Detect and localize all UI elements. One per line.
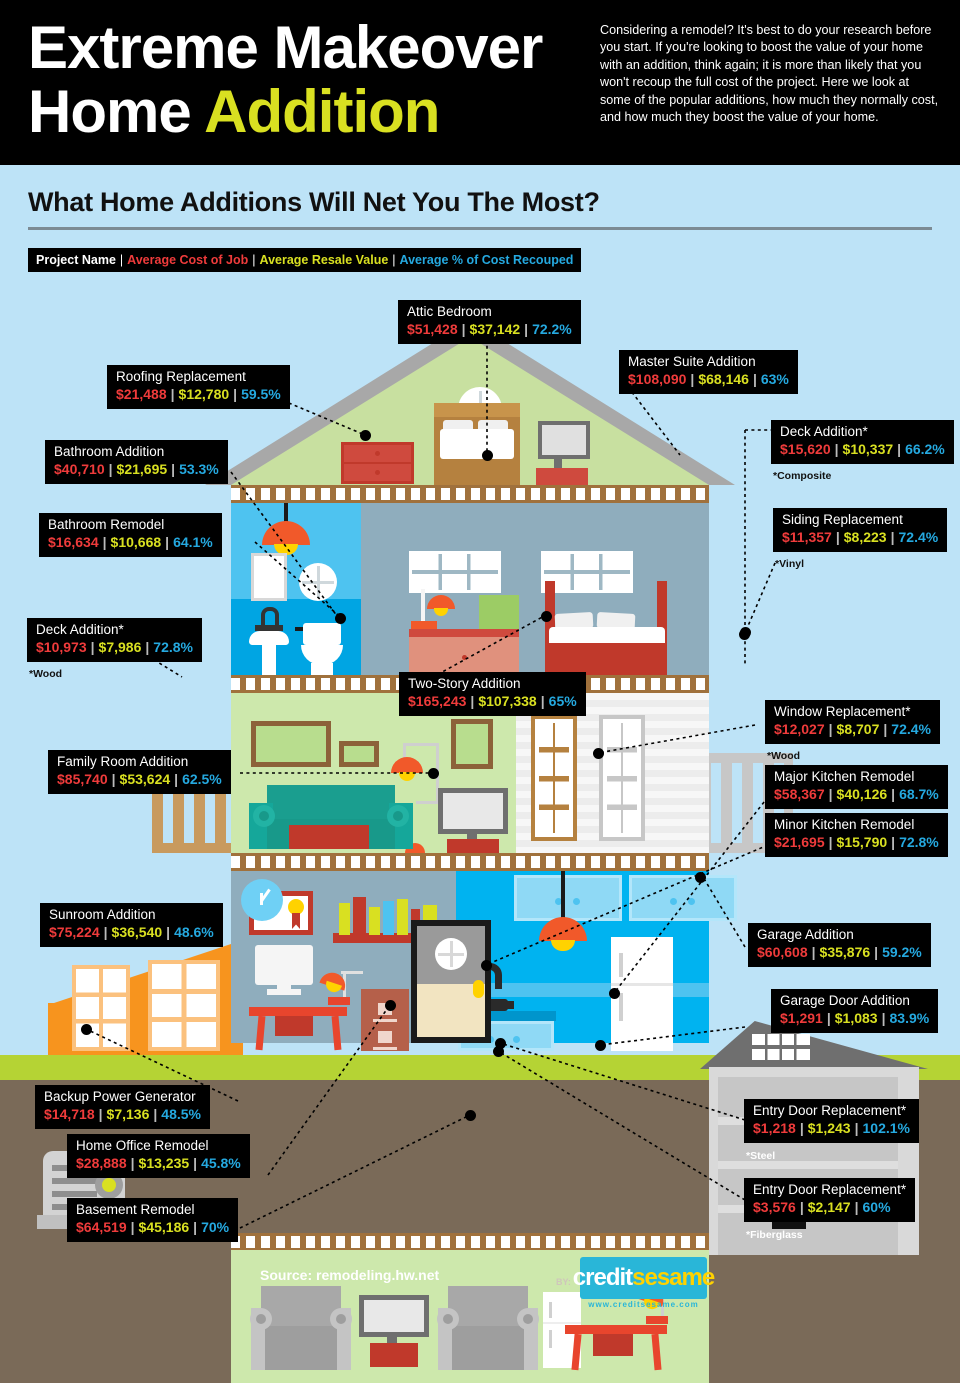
callout-values: $108,090|$68,146|63% xyxy=(628,371,789,388)
callout-bathroom-addition[interactable]: Bathroom Addition $40,710|$21,695|53.3% xyxy=(45,440,228,484)
callout-name: Major Kitchen Remodel xyxy=(774,769,939,785)
callout-values: $28,888|$13,235|45.8% xyxy=(76,1155,241,1172)
family-room-art-large xyxy=(251,721,331,767)
callout-pct: 64.1% xyxy=(173,534,213,550)
basement-armchair-left-back xyxy=(261,1286,341,1326)
callout-home-office[interactable]: Home Office Remodel $28,888|$13,235|45.8… xyxy=(67,1134,250,1178)
basement-armchair-right-back xyxy=(448,1286,528,1326)
callout-pct: 45.8% xyxy=(201,1155,241,1171)
callout-pct: 48.5% xyxy=(161,1106,201,1122)
garage-vent-window xyxy=(752,1034,810,1060)
footnote-siding: *Vinyl xyxy=(775,558,804,570)
title-line-2: Home Addition xyxy=(28,80,588,144)
attic-side-table xyxy=(536,468,588,485)
callout-resale: $53,624 xyxy=(120,771,171,787)
callout-cost: $12,027 xyxy=(774,721,825,737)
callout-values: $60,608|$35,876|59.2% xyxy=(757,944,922,961)
callout-name: Window Replacement* xyxy=(774,704,931,720)
sunroom-window-left xyxy=(72,965,130,1051)
book-4 xyxy=(383,901,394,935)
footnote-deck-composite: *Composite xyxy=(773,470,831,482)
callout-name: Home Office Remodel xyxy=(76,1138,241,1154)
callout-resale: $21,695 xyxy=(117,461,168,477)
toilet-tank xyxy=(303,623,341,645)
callout-values: $14,718|$7,136|48.5% xyxy=(44,1106,201,1123)
callout-resale: $45,186 xyxy=(139,1219,190,1235)
callout-major-kitchen[interactable]: Major Kitchen Remodel $58,367|$40,126|68… xyxy=(765,765,948,809)
anchor-dot-bathroom xyxy=(335,613,346,624)
callout-resale: $1,083 xyxy=(835,1010,878,1026)
callout-entry-door-steel[interactable]: Entry Door Replacement* $1,218|$1,243|10… xyxy=(744,1099,919,1143)
callout-pct: 72.4% xyxy=(891,721,931,737)
callout-cost: $16,634 xyxy=(48,534,99,550)
callout-window-replacement[interactable]: Window Replacement* $12,027|$8,707|72.4% xyxy=(765,700,940,744)
legend-bar: Project Name | Average Cost of Job | Ave… xyxy=(28,248,581,272)
attic-dresser xyxy=(341,442,414,484)
callout-entry-door-fiberglass[interactable]: Entry Door Replacement* $3,576|$2,147|60… xyxy=(744,1178,915,1222)
callout-cost: $85,740 xyxy=(57,771,108,787)
certificate-seal-icon xyxy=(288,899,304,915)
callout-cost: $64,519 xyxy=(76,1219,127,1235)
callout-cost: $108,090 xyxy=(628,371,686,387)
floor-upper xyxy=(231,503,709,675)
callout-name: Garage Addition xyxy=(757,927,922,943)
callout-resale: $40,126 xyxy=(837,786,888,802)
callout-values: $165,243|$107,338|65% xyxy=(408,693,577,710)
intro-paragraph: Considering a remodel? It's best to do y… xyxy=(600,22,940,126)
attic-tv xyxy=(538,421,590,459)
callout-name: Entry Door Replacement* xyxy=(753,1103,910,1119)
kitchen-refrigerator xyxy=(611,937,673,1051)
office-chair-bar xyxy=(275,1029,313,1036)
callout-garage-door[interactable]: Garage Door Addition $1,291|$1,083|83.9% xyxy=(771,989,938,1033)
callout-resale: $8,707 xyxy=(837,721,880,737)
floor-joist-middle xyxy=(231,853,709,871)
anchor-dot-attic-bedroom xyxy=(482,450,493,461)
title-plain: Home xyxy=(28,78,204,145)
legend-sep-3: | xyxy=(388,253,399,267)
callout-name: Entry Door Replacement* xyxy=(753,1182,906,1198)
callout-values: $12,027|$8,707|72.4% xyxy=(774,721,931,738)
anchor-dot-sunroom xyxy=(81,1024,92,1035)
coffee-table xyxy=(289,825,369,849)
attic-bed xyxy=(434,403,520,485)
callout-values: $75,224|$36,540|48.6% xyxy=(49,924,214,941)
callout-cost: $51,428 xyxy=(407,321,458,337)
callout-values: $3,576|$2,147|60% xyxy=(753,1199,906,1216)
callout-resale: $12,780 xyxy=(179,386,230,402)
callout-resale: $2,147 xyxy=(808,1199,851,1215)
callout-resale: $7,136 xyxy=(107,1106,150,1122)
french-door-wood xyxy=(531,715,577,841)
callout-cost: $3,576 xyxy=(753,1199,796,1215)
callout-pct: 72.2% xyxy=(532,321,572,337)
callout-values: $64,519|$45,186|70% xyxy=(76,1219,229,1236)
callout-resale: $35,876 xyxy=(820,944,871,960)
anchor-dot-entry-fiberglass xyxy=(493,1046,504,1057)
bathroom-round-window xyxy=(299,563,337,601)
callout-pct: 102.1% xyxy=(863,1120,910,1136)
header-banner: Extreme Makeover Home Addition Consideri… xyxy=(0,0,960,165)
door-knob-icon xyxy=(473,980,484,998)
callout-cost: $60,608 xyxy=(757,944,808,960)
callout-bathroom-remodel[interactable]: Bathroom Remodel $16,634|$10,668|64.1% xyxy=(39,513,222,557)
callout-name: Two-Story Addition xyxy=(408,676,577,692)
callout-cost: $40,710 xyxy=(54,461,105,477)
family-room-wire-bottom xyxy=(416,801,439,804)
callout-resale: $10,668 xyxy=(111,534,162,550)
callout-pct: 72.4% xyxy=(899,529,939,545)
callout-name: Basement Remodel xyxy=(76,1202,229,1218)
office-lamp-base xyxy=(328,997,350,1005)
floor-middle xyxy=(231,693,709,853)
toilet-base xyxy=(311,663,333,675)
sunroom-window-right xyxy=(148,960,220,1051)
callout-cost: $1,218 xyxy=(753,1120,796,1136)
callout-cost: $11,357 xyxy=(782,529,832,545)
door-window-icon xyxy=(435,938,467,970)
basement-tv xyxy=(359,1295,429,1337)
callout-name: Roofing Replacement xyxy=(116,369,281,385)
legend-sep-1: | xyxy=(116,253,127,267)
bedroom-lamp-base xyxy=(411,621,437,629)
callout-pct: 68.7% xyxy=(899,786,939,802)
generator-vent-3 xyxy=(52,1191,97,1197)
callout-resale: $8,223 xyxy=(844,529,887,545)
office-filing-cabinet xyxy=(361,989,409,1051)
basement-desk xyxy=(565,1325,667,1334)
callout-master-suite[interactable]: Master Suite Addition $108,090|$68,146|6… xyxy=(619,350,798,394)
book-2 xyxy=(353,897,366,935)
callout-values: $40,710|$21,695|53.3% xyxy=(54,461,219,478)
callout-name: Siding Replacement xyxy=(782,512,938,528)
callout-resale: $37,142 xyxy=(470,321,521,337)
callout-values: $21,695|$15,790|72.8% xyxy=(774,834,939,851)
anchor-dot-master-suite xyxy=(541,611,552,622)
basement-tv-stand xyxy=(370,1343,418,1367)
callout-values: $58,367|$40,126|68.7% xyxy=(774,786,939,803)
legend-sep-2: | xyxy=(248,253,259,267)
callout-pct: 72.8% xyxy=(153,639,193,655)
callout-name: Bathroom Remodel xyxy=(48,517,213,533)
office-monitor-base xyxy=(267,989,301,995)
callout-cost: $10,973 xyxy=(36,639,87,655)
callout-resale: $10,337 xyxy=(843,441,894,457)
bathroom-faucet xyxy=(261,607,279,627)
callout-name: Minor Kitchen Remodel xyxy=(774,817,939,833)
callout-name: Garage Door Addition xyxy=(780,993,929,1009)
callout-cost: $75,224 xyxy=(49,924,100,940)
logo-text-sesame: sesame xyxy=(632,1264,714,1292)
footnote-entry-steel: *Steel xyxy=(746,1150,775,1162)
generator-vent-2 xyxy=(52,1178,97,1184)
callout-values: $11,357|$8,223|72.4% xyxy=(782,529,938,546)
bathroom-lamp-cord xyxy=(284,503,288,522)
legend-project: Project Name xyxy=(36,253,116,267)
anchor-dot-kitchen-minor xyxy=(481,960,492,971)
book-1 xyxy=(339,903,350,935)
callout-name: Deck Addition* xyxy=(36,622,193,638)
basement-desk-leg-right xyxy=(651,1334,661,1370)
bedroom-dresser xyxy=(409,629,519,675)
title-accent: Addition xyxy=(204,78,439,145)
callout-values: $21,488|$12,780|59.5% xyxy=(116,386,281,403)
callout-basement-remodel[interactable]: Basement Remodel $64,519|$45,186|70% xyxy=(67,1198,238,1242)
callout-name: Sunroom Addition xyxy=(49,907,214,923)
basement-lamp-base xyxy=(646,1316,668,1324)
family-room-tv-stand xyxy=(447,839,499,853)
callout-pct: 53.3% xyxy=(179,461,219,477)
office-desk xyxy=(249,1007,347,1016)
section-subtitle: What Home Additions Will Net You The Mos… xyxy=(28,187,600,218)
callout-cost: $21,488 xyxy=(116,386,167,402)
callout-pct: 65% xyxy=(549,693,577,709)
callout-cost: $165,243 xyxy=(408,693,466,709)
by-label: BY: xyxy=(556,1277,571,1287)
callout-two-story-addition[interactable]: Two-Story Addition $165,243|$107,338|65% xyxy=(399,672,586,716)
callout-values: $16,634|$10,668|64.1% xyxy=(48,534,213,551)
callout-cost: $58,367 xyxy=(774,786,825,802)
garage-door-band-2 xyxy=(718,1161,898,1169)
callout-minor-kitchen[interactable]: Minor Kitchen Remodel $21,695|$15,790|72… xyxy=(765,813,948,857)
family-room-art-tall xyxy=(451,719,493,769)
callout-name: Deck Addition* xyxy=(780,424,945,440)
callout-pct: 66.2% xyxy=(905,441,945,457)
logo-text-credit: credit xyxy=(573,1264,632,1292)
sofa-knob-left xyxy=(253,805,275,827)
floor-joist-basement xyxy=(231,1233,709,1251)
callout-roofing-replacement[interactable]: Roofing Replacement $21,488|$12,780|59.5… xyxy=(107,365,290,409)
callout-pct: 48.6% xyxy=(174,924,214,940)
callout-pct: 60% xyxy=(863,1199,891,1215)
anchor-dot-office xyxy=(385,1000,396,1011)
callout-values: $1,218|$1,243|102.1% xyxy=(753,1120,910,1137)
callout-resale: $15,790 xyxy=(837,834,888,850)
french-door-vinyl xyxy=(599,715,645,841)
callout-values: $85,740|$53,624|62.5% xyxy=(57,771,222,788)
bed-base xyxy=(545,643,667,675)
basement-armchair-right-seat xyxy=(452,1326,524,1370)
callout-cost: $15,620 xyxy=(780,441,831,457)
callout-sunroom-addition[interactable]: Sunroom Addition $75,224|$36,540|48.6% xyxy=(40,903,223,947)
callout-name: Family Room Addition xyxy=(57,754,222,770)
source-credit: Source: remodeling.hw.net xyxy=(260,1267,439,1283)
bathroom-mirror xyxy=(251,553,287,601)
callout-values: $10,973|$7,986|72.8% xyxy=(36,639,193,656)
callout-resale: $1,243 xyxy=(808,1120,851,1136)
callout-backup-generator[interactable]: Backup Power Generator $14,718|$7,136|48… xyxy=(35,1085,210,1129)
legend-resale: Average Resale Value xyxy=(260,253,389,267)
page-title: Extreme Makeover Home Addition xyxy=(28,16,588,144)
subtitle-divider xyxy=(28,227,932,230)
footnote-deck-wood: *Wood xyxy=(29,668,62,680)
callout-deck-wood[interactable]: Deck Addition* $10,973|$7,986|72.8% xyxy=(27,618,202,662)
anchor-dot-family-room xyxy=(428,768,439,779)
office-desk-leg-left xyxy=(256,1016,266,1050)
kitchen-upper-cabinet-right xyxy=(629,875,737,921)
callout-pct: 72.8% xyxy=(899,834,939,850)
infographic-canvas: What Home Additions Will Net You The Mos… xyxy=(0,165,960,1327)
callout-cost: $1,291 xyxy=(780,1010,823,1026)
callout-values: $1,291|$1,083|83.9% xyxy=(780,1010,929,1027)
anchor-dot-kitchen-major xyxy=(609,988,620,999)
anchor-dot-garage xyxy=(595,1040,606,1051)
anchor-dot-window-replacement xyxy=(593,748,604,759)
bedroom-lamp-arm xyxy=(421,589,425,623)
callout-cost: $21,695 xyxy=(774,834,825,850)
basement-armchair-left-seat xyxy=(265,1326,337,1370)
kitchen-upper-cabinet-left xyxy=(514,875,622,921)
callout-name: Backup Power Generator xyxy=(44,1089,201,1105)
floor-joist-attic xyxy=(231,485,709,503)
anchor-dot-siding xyxy=(739,629,750,640)
callout-pct: 63% xyxy=(761,371,789,387)
anchor-dot-two-story xyxy=(695,872,706,883)
book-3 xyxy=(369,907,380,935)
callout-values: $15,620|$10,337|66.2% xyxy=(780,441,945,458)
sofa-knob-right xyxy=(387,805,409,827)
callout-resale: $13,235 xyxy=(139,1155,190,1171)
callout-cost: $28,888 xyxy=(76,1155,127,1171)
callout-garage-addition[interactable]: Garage Addition $60,608|$35,876|59.2% xyxy=(748,923,931,967)
bedroom-window-left xyxy=(409,551,501,593)
footnote-entry-fiberglass: *Fiberglass xyxy=(746,1229,803,1241)
footnote-window: *Wood xyxy=(767,750,800,762)
callout-pct: 70% xyxy=(201,1219,229,1235)
basement-chair-bar xyxy=(593,1348,633,1355)
front-entry-door[interactable] xyxy=(411,920,491,1043)
title-line-1: Extreme Makeover xyxy=(28,16,588,80)
callout-family-room[interactable]: Family Room Addition $85,740|$53,624|62.… xyxy=(48,750,231,794)
callout-pct: 59.5% xyxy=(241,386,281,402)
callout-deck-composite[interactable]: Deck Addition* $15,620|$10,337|66.2% xyxy=(771,420,954,464)
callout-name: Master Suite Addition xyxy=(628,354,789,370)
callout-pct: 59.2% xyxy=(882,944,922,960)
legend-cost: Average Cost of Job xyxy=(127,253,248,267)
family-room-art-small xyxy=(339,741,379,767)
callout-pct: 62.5% xyxy=(182,771,222,787)
callout-name: Attic Bedroom xyxy=(407,304,572,320)
callout-name: Bathroom Addition xyxy=(54,444,219,460)
book-5 xyxy=(397,899,408,935)
family-room-wire-top xyxy=(403,743,439,746)
credit-sesame-logo[interactable]: creditsesame xyxy=(580,1257,707,1299)
sofa-back xyxy=(267,785,395,821)
callout-resale: $7,986 xyxy=(99,639,142,655)
logo-url: www.creditsesame.com xyxy=(580,1300,707,1309)
kitchen-faucet-handle-right xyxy=(504,1001,514,1009)
family-room-tv xyxy=(438,788,508,834)
callout-values: $51,428|$37,142|72.2% xyxy=(407,321,572,338)
kitchen-clock-icon xyxy=(241,879,283,921)
anchor-dot-basement xyxy=(465,1110,476,1121)
office-monitor xyxy=(255,945,313,985)
legend-recouped: Average % of Cost Recouped xyxy=(400,253,574,267)
callout-resale: $68,146 xyxy=(698,371,749,387)
kitchen-lamp-cord xyxy=(561,871,565,919)
callout-attic-bedroom[interactable]: Attic Bedroom $51,428|$37,142|72.2% xyxy=(398,300,581,344)
anchor-dot-roofing xyxy=(360,430,371,441)
callout-resale: $107,338 xyxy=(478,693,536,709)
callout-pct: 83.9% xyxy=(890,1010,930,1026)
bathroom-sink-pedestal xyxy=(262,643,276,675)
callout-cost: $14,718 xyxy=(44,1106,95,1122)
callout-resale: $36,540 xyxy=(112,924,163,940)
callout-siding-replacement[interactable]: Siding Replacement $11,357|$8,223|72.4% xyxy=(773,508,947,552)
